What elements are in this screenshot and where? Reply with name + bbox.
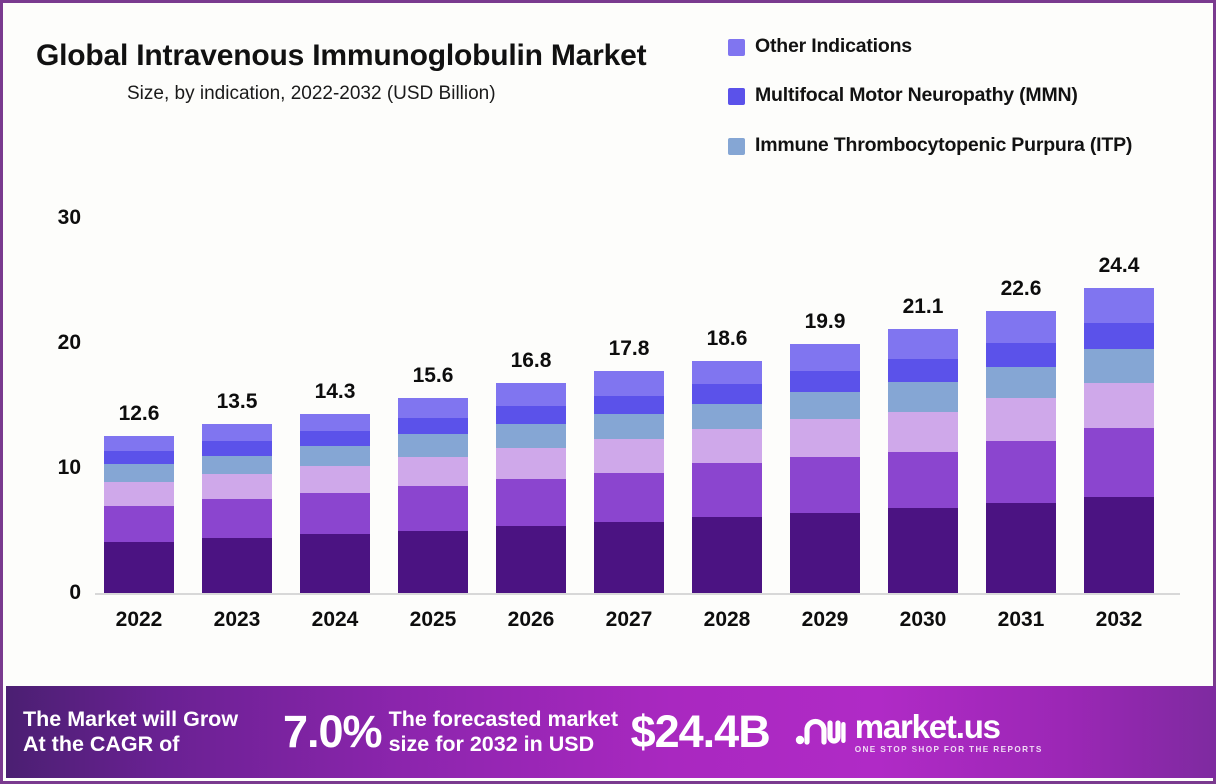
bar-segment (300, 446, 370, 466)
bar-value-label: 16.8 (511, 349, 552, 373)
bar-stack (888, 329, 958, 593)
bar-segment (300, 534, 370, 593)
bar-segment (202, 424, 272, 440)
legend-item-label: Multifocal Motor Neuropathy (MMN) (755, 84, 1078, 106)
logo-tagline: ONE STOP SHOP FOR THE REPORTS (855, 746, 1043, 754)
x-axis-tick-label: 2032 (1074, 608, 1164, 632)
cagr-value: 7.0% (283, 706, 382, 758)
bar-segment (1084, 497, 1154, 593)
bar-segment (888, 382, 958, 412)
forecast-value: $24.4B (631, 706, 770, 758)
footer-banner: The Market will Grow At the CAGR of 7.0%… (6, 686, 1216, 778)
bar-segment (104, 464, 174, 481)
x-axis-tick-label: 2028 (682, 608, 772, 632)
bar-value-label: 15.6 (413, 364, 454, 388)
axis-baseline (95, 593, 1180, 595)
bar-segment (1084, 428, 1154, 497)
bar-value-label: 12.6 (119, 402, 160, 426)
x-axis-tick-label: 2031 (976, 608, 1066, 632)
bar-segment (202, 499, 272, 538)
bar-segment (104, 506, 174, 542)
bar-value-label: 14.3 (315, 380, 356, 404)
bar-stack (986, 311, 1056, 594)
legend-swatch-icon (728, 39, 745, 56)
bar-segment (888, 359, 958, 382)
bar-segment (594, 414, 664, 439)
bar-segment (790, 392, 860, 420)
bar-segment (398, 531, 468, 594)
bar-segment (202, 456, 272, 475)
market-us-logo-icon (794, 711, 846, 752)
x-axis-tick-label: 2029 (780, 608, 870, 632)
y-axis: 0102030 (3, 208, 91, 608)
bar-segment (202, 474, 272, 499)
chart-subtitle: Size, by indication, 2022-2032 (USD Bill… (127, 83, 496, 105)
bar-segment (398, 398, 468, 418)
legend-swatch-icon (728, 138, 745, 155)
bar-stack (104, 436, 174, 594)
plot-area: 12.613.514.315.616.817.818.619.921.122.6… (95, 218, 1175, 593)
y-axis-tick-label: 0 (69, 581, 81, 605)
legend-item-label: Immune Thrombocytopenic Purpura (ITP) (755, 134, 1132, 156)
bar-segment (986, 441, 1056, 504)
bar-segment (594, 473, 664, 522)
y-axis-tick-label: 20 (58, 331, 81, 355)
forecast-label-line1: The forecasted market (389, 707, 625, 732)
bar-segment (692, 429, 762, 463)
bar-segment (986, 311, 1056, 344)
bar-value-label: 24.4 (1099, 254, 1140, 278)
bar-segment (202, 538, 272, 593)
bar-segment (692, 384, 762, 404)
bar-segment (986, 367, 1056, 398)
bar-value-label: 19.9 (805, 310, 846, 334)
bar-value-label: 13.5 (217, 390, 258, 414)
cagr-label-line1: The Market will Grow (23, 707, 273, 732)
bar-stack (594, 371, 664, 594)
bar-segment (692, 404, 762, 429)
bar-value-label: 18.6 (707, 327, 748, 351)
bar-segment (1084, 288, 1154, 323)
forecast-label-line2: size for 2032 in USD (389, 732, 625, 757)
bar-segment (888, 329, 958, 359)
legend-swatch-icon (728, 88, 745, 105)
logo-name: market.us (855, 710, 1043, 743)
bar-segment (496, 479, 566, 525)
bar-segment (790, 344, 860, 370)
market-us-logo-text: market.us ONE STOP SHOP FOR THE REPORTS (855, 710, 1043, 754)
bar-segment (790, 513, 860, 593)
bar-segment (790, 419, 860, 457)
bar-segment (692, 361, 762, 385)
chart-infographic: Global Intravenous Immunoglobulin Market… (0, 0, 1216, 784)
bar-segment (1084, 323, 1154, 349)
bar-segment (790, 371, 860, 392)
x-axis-tick-label: 2022 (94, 608, 184, 632)
bar-stack (398, 398, 468, 593)
bar-segment (594, 371, 664, 396)
bar-segment (104, 542, 174, 593)
bar-stack (790, 344, 860, 593)
market-us-logo: market.us ONE STOP SHOP FOR THE REPORTS (794, 710, 1043, 754)
bar-segment (1084, 349, 1154, 383)
bar-segment (300, 466, 370, 494)
bar-segment (790, 457, 860, 513)
bar-value-label: 17.8 (609, 337, 650, 361)
bar-segment (986, 503, 1056, 593)
cagr-label-line2: At the CAGR of (23, 732, 273, 757)
bar-segment (496, 448, 566, 479)
bar-segment (300, 414, 370, 430)
bar-segment (1084, 383, 1154, 428)
y-axis-tick-label: 30 (58, 206, 81, 230)
bar-segment (104, 451, 174, 465)
bar-segment (986, 343, 1056, 367)
bar-segment (594, 439, 664, 473)
legend-item: Immune Thrombocytopenic Purpura (ITP) (728, 134, 1198, 156)
bar-segment (986, 398, 1056, 441)
bar-stack (202, 424, 272, 593)
x-axis-tick-label: 2024 (290, 608, 380, 632)
bar-stack (300, 414, 370, 593)
bar-segment (888, 508, 958, 593)
x-axis-tick-label: 2025 (388, 608, 478, 632)
bar-segment (888, 452, 958, 508)
bar-segment (692, 517, 762, 593)
bar-segment (398, 434, 468, 457)
bar-segment (300, 493, 370, 534)
bar-stack (692, 361, 762, 594)
x-axis-tick-label: 2030 (878, 608, 968, 632)
bar-value-label: 22.6 (1001, 277, 1042, 301)
x-axis-tick-label: 2026 (486, 608, 576, 632)
x-axis-tick-label: 2027 (584, 608, 674, 632)
bar-segment (496, 526, 566, 594)
legend-item-label: Other Indications (755, 35, 912, 57)
bar-segment (496, 383, 566, 406)
page-title: Global Intravenous Immunoglobulin Market (36, 39, 646, 73)
bar-segment (692, 463, 762, 517)
bar-value-label: 21.1 (903, 295, 944, 319)
bar-segment (398, 418, 468, 434)
bar-segment (398, 457, 468, 486)
cagr-label: The Market will Grow At the CAGR of (23, 707, 273, 758)
bar-segment (398, 486, 468, 531)
bar-segment (202, 441, 272, 456)
chart-legend: Other IndicationsMultifocal Motor Neurop… (728, 35, 1198, 183)
legend-item: Other Indications (728, 35, 1198, 57)
y-axis-tick-label: 10 (58, 456, 81, 480)
bar-segment (594, 522, 664, 593)
bar-segment (888, 412, 958, 452)
legend-item: Multifocal Motor Neuropathy (MMN) (728, 84, 1198, 106)
bar-segment (594, 396, 664, 415)
bar-segment (104, 482, 174, 506)
forecast-label: The forecasted market size for 2032 in U… (389, 707, 625, 758)
x-axis-tick-label: 2023 (192, 608, 282, 632)
bar-stack (496, 383, 566, 593)
bar-segment (300, 431, 370, 446)
bar-stack (1084, 288, 1154, 593)
bar-segment (104, 436, 174, 451)
bar-segment (496, 406, 566, 425)
bar-segment (496, 424, 566, 448)
